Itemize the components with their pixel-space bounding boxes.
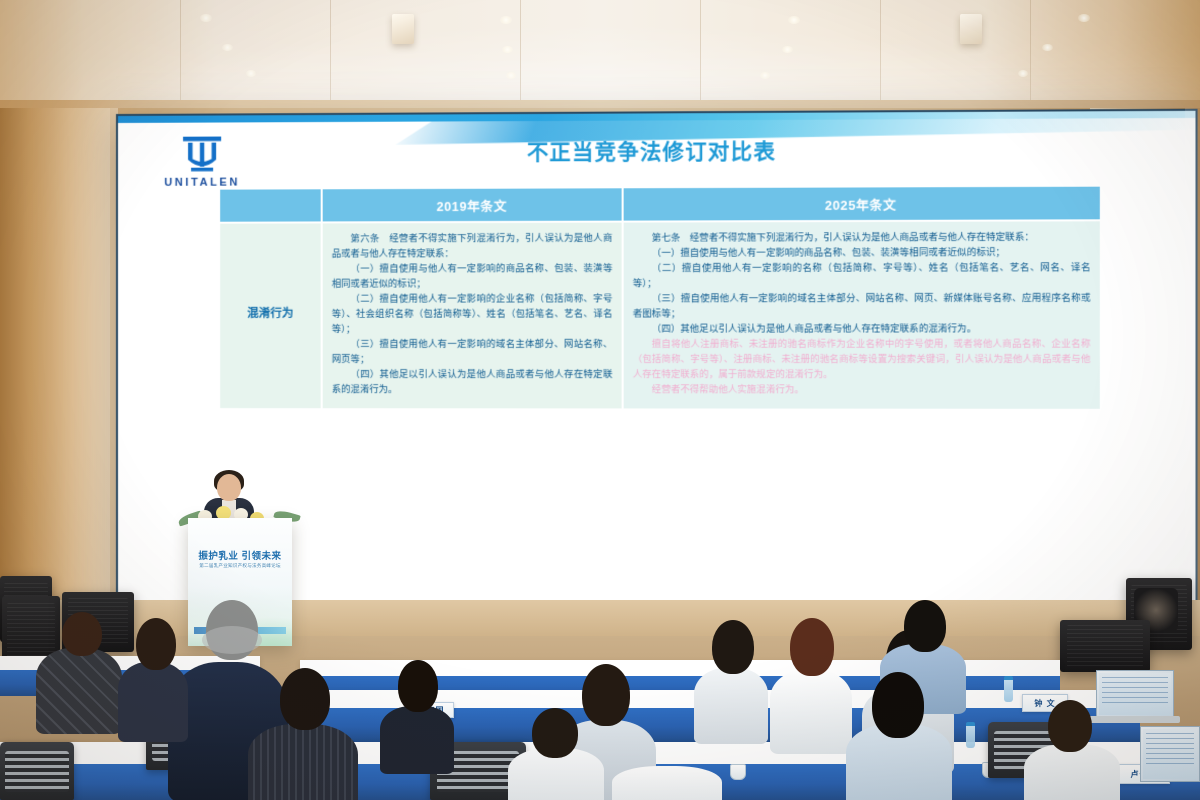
table-header-row: 2019年条文 2025年条文: [220, 187, 1100, 222]
table-row: 混淆行为 第六条 经营者不得实施下列混淆行为，引人误认为是他人商品或者与他人存在…: [220, 221, 1100, 408]
audience-member: [1024, 700, 1120, 800]
audience-member: [612, 748, 722, 800]
audience-member: [694, 620, 768, 740]
row-label-confusion: 混淆行为: [220, 223, 321, 407]
para-2025-3: （三）擅自使用他人有一定影响的域名主体部分、网站名称、网页、新媒体账号名称、应用…: [633, 291, 1091, 322]
cell-2019-text: 第六条 经营者不得实施下列混淆行为，引人误认为是他人商品或者与他人存在特定联系：…: [323, 223, 622, 408]
para-2025-1: （一）擅自使用与他人有一定影响的商品名称、包装、装潢等相同或者近似的标识；: [633, 245, 1091, 261]
column-header-2025: 2025年条文: [624, 187, 1100, 221]
pa-speaker-right-lower: [1060, 620, 1150, 672]
para-2019-0: 第六条 经营者不得实施下列混淆行为，引人误认为是他人商品或者与他人存在特定联系：: [332, 231, 613, 262]
para-2019-1: （一）擅自使用与他人有一定影响的商品名称、包装、装潢等相同或者近似的标识；: [332, 261, 613, 292]
column-header-2019: 2019年条文: [323, 188, 622, 221]
audience-member: [248, 668, 358, 800]
para-2025-2: （二）擅自使用他人有一定影响的名称（包括简称、字号等）、姓名（包括笔名、艺名、网…: [633, 260, 1091, 291]
left-wall-panel: [0, 108, 118, 648]
slide-title: 不正当竞争法修订对比表: [118, 133, 1196, 168]
audience-member: [508, 708, 604, 800]
ceiling: [0, 0, 1200, 108]
audience-member: [118, 618, 188, 738]
paper-cup: [730, 764, 746, 780]
para-2025-4: （四）其他足以引人误认为是他人商品或者与他人存在特定联系的混淆行为。: [633, 321, 1091, 337]
para-2025-5: 擅自将他人注册商标、未注册的驰名商标作为企业名称中的字号使用，或者将他人商品名称…: [633, 337, 1091, 383]
audience-member: [380, 660, 454, 770]
audience-member: [770, 618, 852, 750]
para-2019-3: （三）擅自使用他人有一定影响的域名主体部分、网站名称、网页等；: [332, 337, 613, 367]
para-2025-6: 经营者不得帮助他人实施混淆行为。: [633, 383, 1091, 398]
cell-2025-text: 第七条 经营者不得实施下列混淆行为，引人误认为是他人商品或者与他人存在特定联系：…: [624, 221, 1100, 408]
chair: [0, 742, 74, 800]
conference-photo-scene: UNITALEN 不正当竞争法修订对比表 2019年条文 2025年条文 混淆行…: [0, 0, 1200, 800]
water-bottle: [1004, 676, 1013, 702]
comparison-table: 2019年条文 2025年条文 混淆行为 第六条 经营者不得实施下列混淆行为，引…: [218, 185, 1102, 411]
audience-member: [846, 672, 952, 800]
podium-banner-title: 振护乳业 引领未来: [188, 548, 292, 562]
para-2025-0: 第七条 经营者不得实施下列混淆行为，引人误认为是他人商品或者与他人存在特定联系：: [633, 230, 1091, 246]
podium-banner-subtitle: 第二届乳产业知识产权与法务高峰论坛: [192, 563, 288, 569]
water-bottle: [966, 722, 975, 748]
column-header-blank: [220, 189, 321, 221]
para-2019-4: （四）其他足以引人误认为是他人商品或者与他人存在特定联系的混淆行为。: [332, 367, 613, 397]
laptop-right-lower[interactable]: [1140, 726, 1200, 782]
para-2019-2: （二）擅自使用他人有一定影响的企业名称（包括简称、字号等）、社会组织名称（包括简…: [332, 291, 613, 337]
audience-member: [36, 612, 122, 732]
